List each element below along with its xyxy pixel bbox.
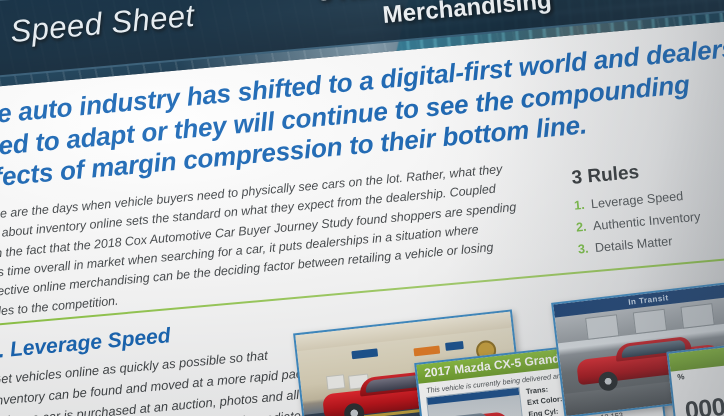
suv-glass — [447, 412, 488, 416]
rule-label: Details Matter — [594, 234, 673, 255]
rule-number: 2. — [575, 216, 594, 239]
rule-number: 1. — [573, 194, 592, 217]
screenshot-frame: net AUTOMOTIVE Speed Sheet 3 Rules for M… — [0, 0, 724, 416]
rule-label: Leverage Speed — [590, 189, 683, 211]
showroom-sign — [413, 346, 440, 357]
series-label: Speed Sheet — [9, 0, 196, 50]
garage-door — [633, 309, 667, 335]
garage-door — [680, 303, 714, 329]
showroom-sign — [445, 341, 464, 351]
speed-sheet-page: net AUTOMOTIVE Speed Sheet 3 Rules for M… — [0, 0, 724, 416]
garage-door — [585, 314, 619, 340]
rule-number: 3. — [577, 238, 596, 261]
rules-panel: 3 Rules 1.Leverage Speed 2.Authentic Inv… — [571, 148, 724, 261]
showroom-sign — [351, 348, 378, 359]
rules-list: 1.Leverage Speed 2.Authentic Inventory 3… — [573, 176, 724, 261]
